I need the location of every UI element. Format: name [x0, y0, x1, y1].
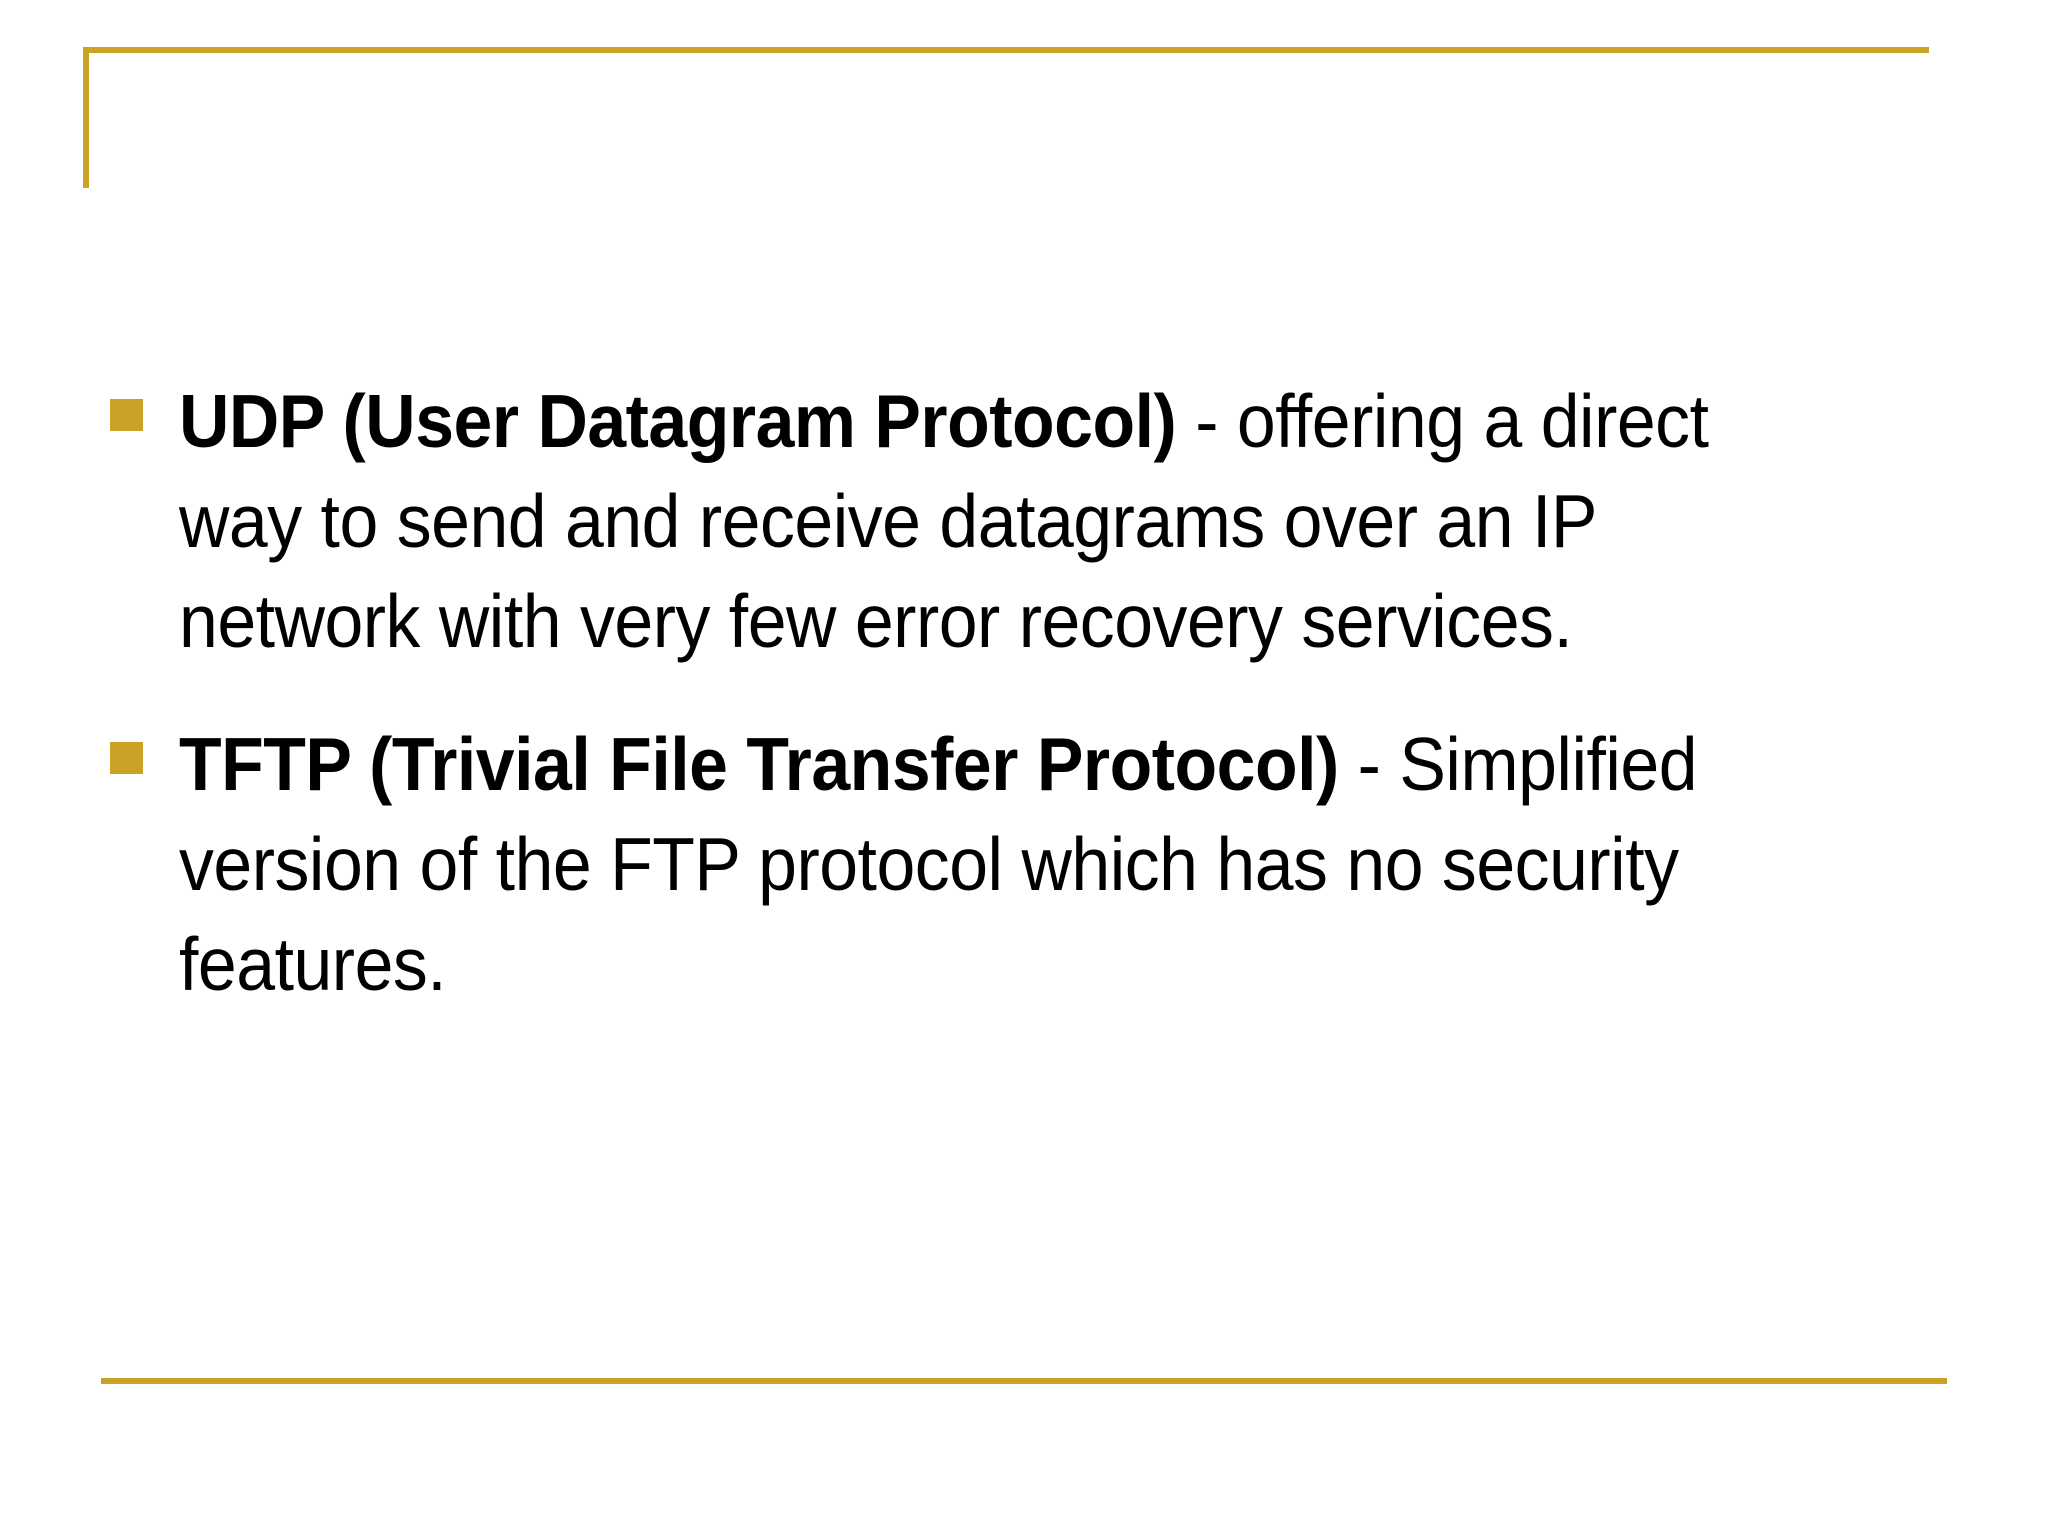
- bullet-lead-label: TFTP (Trivial File Transfer Protocol): [179, 722, 1339, 806]
- list-item[interactable]: UDP (User Datagram Protocol) - offering …: [110, 372, 1922, 671]
- bottom-gold-rule: [101, 1378, 1947, 1384]
- list-item[interactable]: TFTP (Trivial File Transfer Protocol) - …: [110, 715, 1922, 1014]
- square-bullet-icon: [110, 742, 143, 774]
- slide-canvas: UDP (User Datagram Protocol) - offering …: [0, 0, 2048, 1536]
- left-gold-rule: [83, 47, 89, 188]
- bullet-lead-label: UDP (User Datagram Protocol): [179, 379, 1176, 463]
- bullet-text-udp: UDP (User Datagram Protocol) - offering …: [179, 372, 1800, 671]
- square-bullet-icon: [110, 399, 143, 431]
- slide-body: UDP (User Datagram Protocol) - offering …: [110, 372, 1922, 1015]
- top-gold-rule: [83, 47, 1929, 53]
- bullet-text-tftp: TFTP (Trivial File Transfer Protocol) - …: [179, 715, 1800, 1014]
